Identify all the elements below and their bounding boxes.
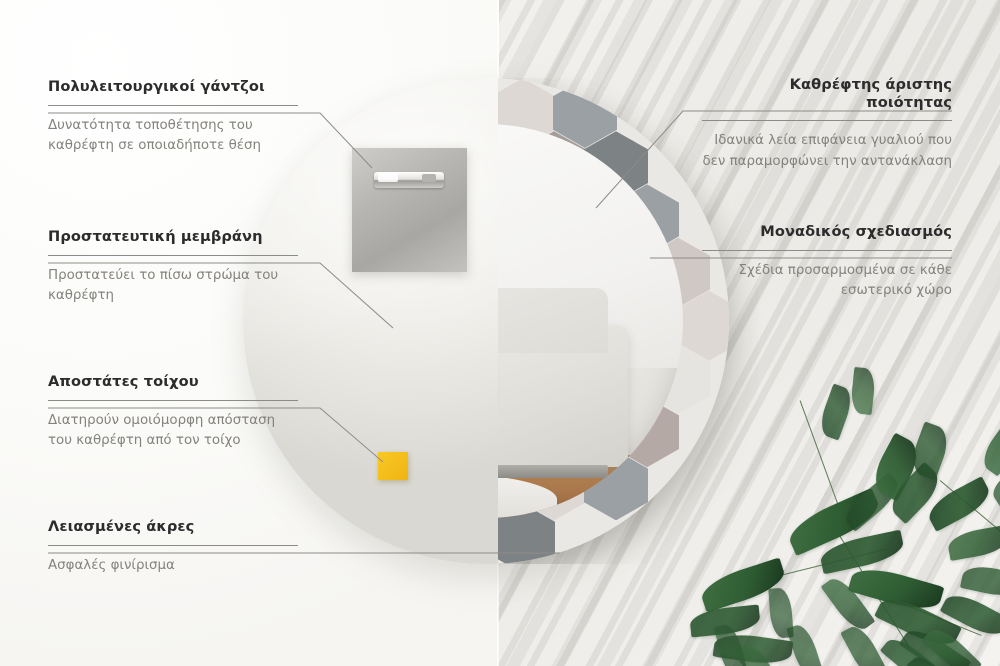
leaf [768, 587, 793, 638]
callout-edges-title: Λειασμένες άκρες [48, 518, 298, 536]
yellow-wall-spacer [378, 452, 408, 480]
plant-branch [690, 340, 1000, 666]
callout-spacers: Αποστάτες τοίχου Διατηρούν ομοιόμορφη απ… [48, 373, 298, 452]
leaf [816, 383, 856, 440]
callout-quality-title: Καθρέφτης άριστης ποιότητας [702, 76, 952, 111]
callout-membrane-title: Προστατευτική μεμβράνη [48, 228, 298, 246]
callout-hooks-title: Πολυλειτουργικοί γάντζοι [48, 78, 298, 96]
callout-design-title: Μοναδικός σχεδιασμός [702, 223, 952, 241]
callout-quality: Καθρέφτης άριστης ποιότητας Ιδανικά λεία… [702, 76, 952, 173]
leaf [977, 418, 1000, 477]
callout-membrane-rule [48, 255, 298, 256]
callout-edges: Λειασμένες άκρες Ασφαλές φινίρισμα [48, 518, 298, 576]
callout-quality-rule [702, 120, 952, 121]
hook-bracket-icon [374, 172, 444, 188]
leaf [850, 367, 877, 415]
callout-spacers-rule [48, 400, 298, 401]
callout-edges-rule [48, 545, 298, 546]
hanging-hook-plate [352, 148, 467, 272]
leaf [946, 525, 1000, 561]
callout-spacers-title: Αποστάτες τοίχου [48, 373, 298, 391]
sofa-base [498, 465, 608, 478]
callout-membrane: Προστατευτική μεμβράνη Προστατεύει το πί… [48, 228, 298, 307]
callout-quality-body: Ιδανικά λεία επιφάνεια γυαλιού που δεν π… [702, 131, 952, 173]
callout-edges-body: Ασφαλές φινίρισμα [48, 556, 298, 577]
leaf [960, 562, 1000, 599]
callout-hooks-body: Δυνατότητα τοποθέτησης του καθρέφτη σε ο… [48, 116, 298, 158]
sofa-backrest [498, 288, 608, 353]
callout-design: Μοναδικός σχεδιασμός Σχέδια προσαρμοσμέν… [702, 223, 952, 302]
callout-hooks: Πολυλειτουργικοί γάντζοι Δυνατότητα τοπο… [48, 78, 298, 157]
callout-spacers-body: Διατηρούν ομοιόμορφη απόσταση του καθρέφ… [48, 411, 298, 453]
infographic-canvas: Πολυλειτουργικοί γάντζοι Δυνατότητα τοπο… [0, 0, 1000, 666]
callout-hooks-rule [48, 105, 298, 106]
mirror-glass [498, 124, 683, 518]
callout-design-rule [702, 250, 952, 251]
callout-membrane-body: Προστατεύει το πίσω στρώμα του καθρέφτη [48, 266, 298, 308]
reflected-sofa [498, 325, 628, 467]
callout-design-body: Σχέδια προσαρμοσμένα σε κάθε εσωτερικό χ… [702, 261, 952, 303]
